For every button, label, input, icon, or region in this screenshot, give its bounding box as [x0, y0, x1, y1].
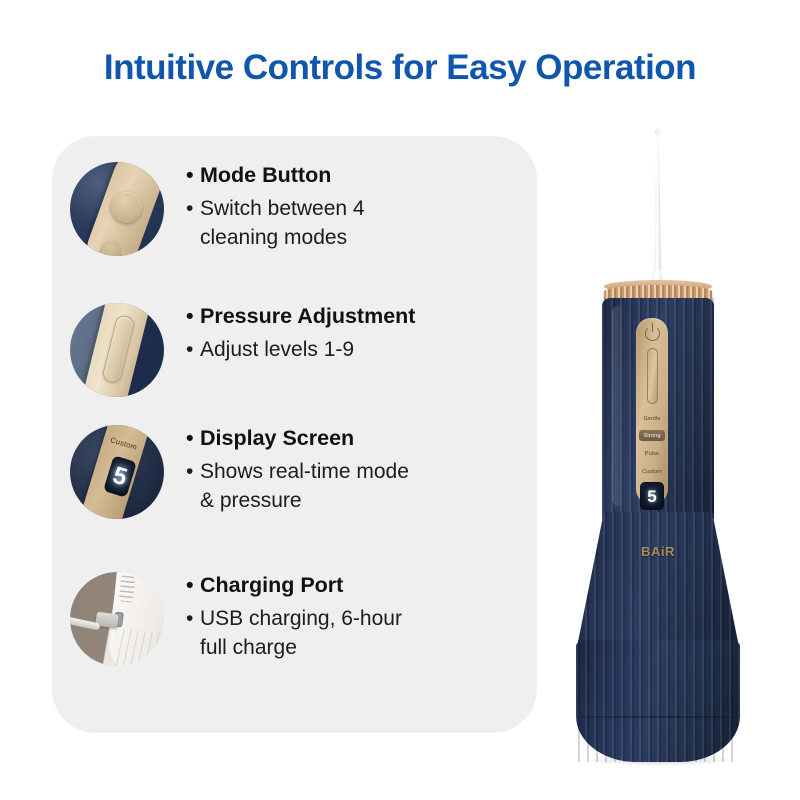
display-screen-photo: Custom 5 [70, 425, 164, 519]
feature-desc-line2: & pressure [186, 486, 409, 516]
feature-desc-line1: Shows real-time mode [200, 460, 409, 483]
feature-heading: •Display Screen [186, 425, 409, 453]
feature-item-mode-button: •Mode Button •Switch between 4cleaning m… [64, 158, 534, 256]
feature-text: •Charging Port •USB charging, 6-hourfull… [186, 568, 402, 663]
feature-text: •Mode Button •Switch between 4cleaning m… [186, 158, 365, 253]
feature-heading-text: Pressure Adjustment [200, 304, 415, 328]
control-panel[interactable] [636, 318, 668, 504]
mode-label-gentle: Gentle [636, 416, 668, 422]
feature-description: •Shows real-time mode& pressure [186, 457, 409, 517]
product-display-digit: 5 [647, 488, 656, 505]
feature-panel: •Mode Button •Switch between 4cleaning m… [52, 136, 537, 733]
brand-logo: BAiR [616, 544, 700, 559]
feature-desc-line2: full charge [186, 633, 402, 663]
feature-desc-line2: cleaning modes [186, 223, 365, 253]
bullet-icon: • [186, 194, 200, 224]
pressure-rocker-button[interactable] [647, 348, 658, 404]
feature-description: •Adjust levels 1-9 [186, 335, 415, 365]
water-tank [576, 640, 740, 762]
feature-desc-line1: Switch between 4 [200, 197, 365, 220]
bullet-icon: • [186, 162, 200, 190]
feature-heading-text: Display Screen [200, 426, 354, 450]
handle-highlight [612, 306, 625, 506]
mode-button-photo [70, 162, 164, 256]
mode-label-custom: Custom [636, 469, 668, 475]
feature-description: •Switch between 4cleaning modes [186, 194, 365, 254]
feature-heading: •Pressure Adjustment [186, 303, 415, 331]
product-body-flare [576, 512, 740, 652]
feature-desc-line1: Adjust levels 1-9 [200, 338, 354, 361]
bullet-icon: • [186, 425, 200, 453]
body-flutes [576, 512, 740, 652]
mode-label-pulse: Pulse [636, 451, 668, 457]
pressure-adjustment-photo [70, 303, 164, 397]
feature-text: •Display Screen •Shows real-time mode& p… [186, 421, 409, 516]
feature-heading-text: Mode Button [200, 163, 331, 187]
base-flutes [112, 628, 164, 666]
feature-desc-line1: USB charging, 6-hour [200, 607, 402, 630]
feature-heading: •Mode Button [186, 162, 365, 190]
feature-item-display-screen: Custom 5 •Display Screen •Shows real-tim… [64, 421, 534, 519]
charging-port-photo [70, 572, 164, 666]
base-ridges [119, 575, 136, 602]
bullet-icon: • [186, 457, 200, 487]
display-digit: 5 [110, 463, 130, 490]
page-title: Intuitive Controls for Easy Operation [0, 48, 800, 88]
tank-flutes [576, 640, 740, 762]
bullet-icon: • [186, 303, 200, 331]
feature-item-pressure-adjustment: •Pressure Adjustment •Adjust levels 1-9 [64, 299, 534, 397]
feature-item-charging-port: •Charging Port •USB charging, 6-hourfull… [64, 568, 534, 666]
bullet-icon: • [186, 335, 200, 365]
mode-label-strong: Strong [636, 433, 668, 439]
tank-seam [578, 716, 738, 718]
nozzle-point [654, 128, 661, 135]
feature-description: •USB charging, 6-hourfull charge [186, 604, 402, 664]
product-display-screen: 5 [640, 482, 664, 510]
feature-heading: •Charging Port [186, 572, 402, 600]
product-photo: Gentle Strong Pulse Custom 5 BAiR [540, 120, 790, 760]
bullet-icon: • [186, 572, 200, 600]
feature-heading-text: Charging Port [200, 573, 343, 597]
bullet-icon: • [186, 604, 200, 634]
feature-text: •Pressure Adjustment •Adjust levels 1-9 [186, 299, 415, 364]
